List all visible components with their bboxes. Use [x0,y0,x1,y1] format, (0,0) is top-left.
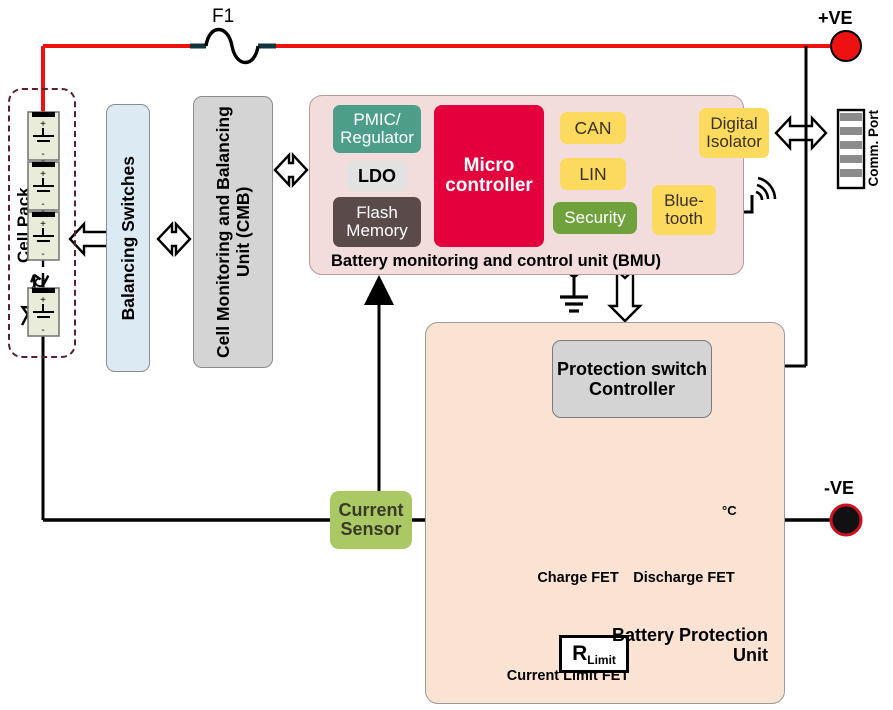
current-sensor-block[interactable]: Current Sensor [330,491,412,549]
bpu-title: Battery Protection Unit [600,625,768,665]
connector-icon[interactable] [838,110,864,188]
bpu-thermistor-label: °C [722,503,737,518]
charge-fet-label: Charge FET [525,570,631,586]
bms-block-diagram: F1 +VE -VE Cell Pack + - + - + [0,0,893,710]
discharge-fet-label: Discharge FET [631,570,737,586]
r-limit-symbol: R [572,642,587,666]
comm-port-label: Comm. Port [866,110,881,187]
protection-switch-controller-block[interactable]: Protection switch Controller [552,340,712,418]
